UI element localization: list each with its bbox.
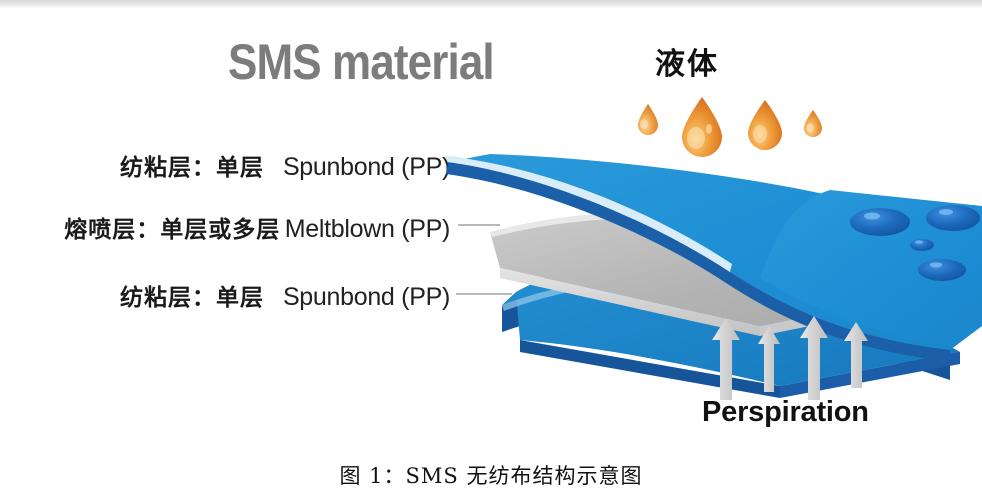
water-bead-1 bbox=[850, 208, 910, 236]
perspiration-label: Perspiration bbox=[702, 396, 869, 428]
arrow-3 bbox=[800, 316, 828, 400]
layer-3-cn: 纺粘层：单层 bbox=[120, 285, 264, 311]
layer-1-cn: 纺粘层：单层 bbox=[120, 155, 264, 181]
droplet-small-1 bbox=[638, 104, 658, 135]
figure-title: SMS material bbox=[228, 34, 494, 90]
layer-label-row-1: 纺粘层：单层 Spunbond (PP) bbox=[20, 148, 450, 182]
liquid-label: 液体 bbox=[655, 47, 719, 83]
layer-2-cn: 熔喷层：单层或多层 bbox=[64, 217, 280, 243]
droplet-small-2 bbox=[804, 110, 822, 137]
layer-label-row-3: 纺粘层：单层 Spunbond (PP) bbox=[20, 278, 450, 312]
layer-2-en: Meltblown (PP) bbox=[285, 215, 450, 243]
arrow-1 bbox=[712, 318, 740, 400]
water-bead-4 bbox=[918, 259, 966, 281]
water-bead-3 bbox=[910, 239, 934, 251]
perspiration-arrows-group bbox=[706, 308, 876, 400]
water-bead-2 bbox=[926, 205, 980, 231]
arrow-2 bbox=[758, 326, 780, 392]
layer-3-en: Spunbond (PP) bbox=[283, 283, 450, 311]
top-edge-strip bbox=[0, 0, 982, 8]
arrow-4 bbox=[844, 322, 868, 388]
figure-caption: 图 1：SMS 无纺布结构示意图 bbox=[0, 460, 982, 490]
figure-canvas: SMS material 液体 bbox=[0, 0, 982, 495]
layer-label-row-2: 熔喷层：单层或多层 Meltblown (PP) bbox=[0, 210, 450, 244]
layer-1-en: Spunbond (PP) bbox=[283, 153, 450, 181]
